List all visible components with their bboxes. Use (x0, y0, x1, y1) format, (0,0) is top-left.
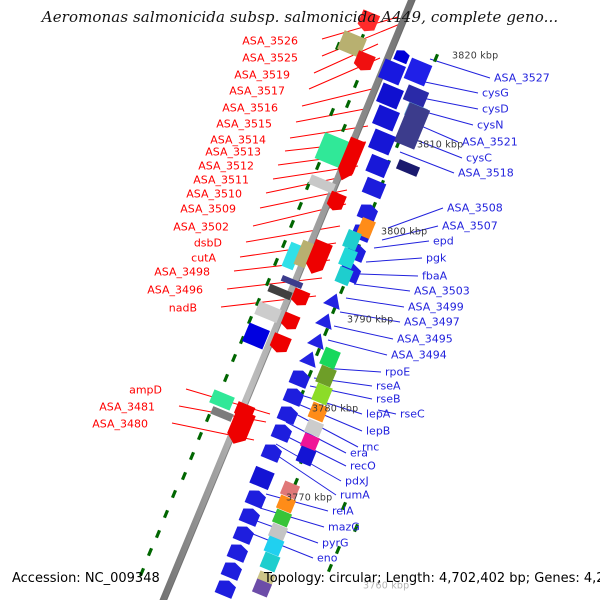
gene-label[interactable]: ASA_3494 (391, 350, 447, 361)
label-leader-line (430, 59, 490, 78)
gene-label[interactable]: ASA_3511 (193, 175, 249, 186)
scale-tick-label: 3780 kbp (312, 404, 358, 415)
label-leader-line (422, 98, 478, 109)
gene-label[interactable]: ASA_3512 (198, 161, 254, 172)
scale-tick-label: 3790 kbp (347, 315, 393, 326)
gene-glyph[interactable] (308, 174, 336, 193)
gene-label[interactable]: ASA_3510 (186, 189, 242, 200)
gene-glyph[interactable] (365, 154, 390, 178)
gene-label[interactable]: rseB (376, 394, 401, 405)
gene-label[interactable]: cutA (191, 253, 216, 264)
rna-feature-mark[interactable] (345, 100, 351, 109)
gene-label[interactable]: ASA_3527 (494, 73, 550, 84)
gene-label[interactable]: rseC (400, 409, 425, 420)
rna-feature-mark[interactable] (353, 80, 359, 89)
gene-label[interactable]: cysC (466, 153, 492, 164)
gene-glyph[interactable] (261, 441, 284, 463)
label-leader-line (246, 226, 340, 242)
gene-label[interactable]: ASA_3518 (458, 168, 514, 179)
gene-label[interactable]: lepA (366, 409, 390, 420)
gene-glyph[interactable] (393, 48, 411, 64)
label-leader-line (374, 241, 429, 248)
gene-label[interactable]: lepB (366, 426, 390, 437)
label-leader-line (346, 298, 404, 307)
label-leader-line (302, 89, 372, 106)
label-leader-line (354, 284, 410, 291)
gene-glyph[interactable] (249, 466, 274, 490)
rna-feature-mark[interactable] (315, 348, 321, 357)
gene-label[interactable]: era (350, 448, 368, 459)
rna-feature-mark[interactable] (197, 432, 203, 441)
gene-label[interactable]: ASA_3508 (447, 203, 503, 214)
gene-label[interactable]: rseA (376, 381, 401, 392)
gene-label[interactable]: ampD (129, 385, 162, 396)
gene-glyph[interactable] (267, 284, 292, 301)
rna-feature-mark[interactable] (315, 162, 321, 171)
rna-feature-mark[interactable] (171, 490, 177, 499)
rna-feature-mark[interactable] (223, 374, 229, 383)
rna-feature-mark[interactable] (339, 286, 345, 295)
gene-label[interactable]: ASA_3495 (397, 334, 453, 345)
gene-label[interactable]: dsbD (194, 238, 222, 249)
page-title: Aeromonas salmonicida subsp. salmonicida… (0, 8, 600, 26)
gene-label[interactable]: ASA_3509 (180, 204, 236, 215)
rna-feature-mark[interactable] (155, 530, 161, 539)
gene-label[interactable]: ASA_3517 (229, 86, 285, 97)
gene-label[interactable]: ASA_3513 (205, 147, 261, 158)
rna-feature-mark[interactable] (147, 548, 153, 557)
rna-feature-mark[interactable] (323, 328, 329, 337)
gene-label[interactable]: pyrG (322, 538, 349, 549)
gene-label[interactable]: ASA_3516 (222, 103, 278, 114)
gene-label[interactable]: relA (332, 506, 354, 517)
rna-feature-mark[interactable] (163, 510, 169, 519)
gene-label[interactable]: ASA_3499 (408, 302, 464, 313)
gene-label[interactable]: pgk (426, 253, 446, 264)
gene-glyph[interactable] (233, 523, 256, 545)
gene-glyph[interactable] (404, 58, 433, 87)
gene-label[interactable]: cysD (482, 104, 509, 115)
accession-status: Accession: NC_009348 (12, 571, 160, 586)
gene-glyph[interactable] (289, 367, 312, 389)
gene-label[interactable]: fbaA (422, 271, 447, 282)
scale-tick-label: 3770 kbp (286, 493, 332, 504)
rna-feature-mark[interactable] (289, 220, 295, 229)
gene-label[interactable]: cysN (477, 120, 504, 131)
gene-label[interactable]: epd (433, 236, 454, 247)
gene-glyph[interactable] (227, 541, 250, 563)
gene-glyph[interactable] (245, 487, 268, 509)
gene-label[interactable]: ASA_3519 (234, 70, 290, 81)
gene-label[interactable]: ASA_3498 (154, 267, 210, 278)
gene-label[interactable]: ASA_3525 (242, 53, 298, 64)
gene-glyph[interactable] (283, 385, 306, 407)
gene-label[interactable]: ASA_3526 (242, 36, 298, 47)
gene-label[interactable]: ASA_3514 (210, 135, 266, 146)
gene-label[interactable]: ASA_3481 (99, 402, 155, 413)
gene-glyph[interactable] (403, 84, 429, 107)
gene-label[interactable]: ASA_3496 (147, 285, 203, 296)
rna-feature-mark[interactable] (181, 472, 187, 481)
gene-label[interactable]: rpoE (385, 367, 410, 378)
gene-glyph[interactable] (396, 159, 420, 177)
label-leader-line (425, 82, 478, 93)
genome-map-canvas[interactable]: Aeromonas salmonicida subsp. salmonicida… (0, 0, 600, 600)
rna-feature-mark[interactable] (281, 240, 287, 249)
genome-summary-status: Topology: circular; Length: 4,702,402 bp… (264, 571, 600, 586)
rna-feature-mark[interactable] (341, 124, 347, 133)
gene-glyph[interactable] (239, 505, 262, 527)
gene-label[interactable]: pdxJ (345, 476, 369, 487)
gene-label[interactable]: ASA_3515 (216, 119, 272, 130)
gene-label[interactable]: ASA_3521 (462, 137, 518, 148)
rna-feature-mark[interactable] (433, 54, 439, 63)
genome-map-graphics[interactable] (0, 0, 600, 600)
gene-glyph[interactable] (221, 559, 244, 581)
scale-tick-label: 3820 kbp (452, 51, 498, 62)
gene-label[interactable]: cysG (482, 88, 509, 99)
gene-label[interactable]: ASA_3480 (92, 419, 148, 430)
label-leader-line (366, 258, 422, 262)
gene-glyph[interactable] (368, 129, 396, 156)
label-leader-line (388, 208, 443, 228)
gene-glyph[interactable] (277, 403, 300, 425)
gene-label[interactable]: eno (317, 553, 337, 564)
gene-label[interactable]: ASA_3507 (442, 221, 498, 232)
gene-label[interactable]: nadB (169, 303, 197, 314)
gene-label[interactable]: ASA_3497 (404, 317, 460, 328)
gene-label[interactable]: rumA (340, 490, 370, 501)
label-leader-line (260, 508, 324, 527)
gene-label[interactable]: ASA_3502 (173, 222, 229, 233)
rna-feature-mark[interactable] (205, 414, 211, 423)
gene-glyph[interactable] (215, 577, 238, 599)
scale-tick-label: 3810 kbp (417, 140, 463, 151)
rna-feature-mark[interactable] (231, 354, 237, 363)
gene-glyph[interactable] (254, 301, 282, 323)
label-leader-line (334, 326, 393, 339)
rna-feature-mark[interactable] (189, 452, 195, 461)
gene-label[interactable]: ASA_3503 (414, 286, 470, 297)
rna-feature-mark[interactable] (273, 258, 279, 267)
gene-label[interactable]: recO (350, 461, 376, 472)
rna-feature-mark[interactable] (297, 202, 303, 211)
scale-tick-label: 3800 kbp (381, 227, 427, 238)
gene-label[interactable]: mazG (328, 522, 360, 533)
label-leader-line (360, 274, 418, 276)
